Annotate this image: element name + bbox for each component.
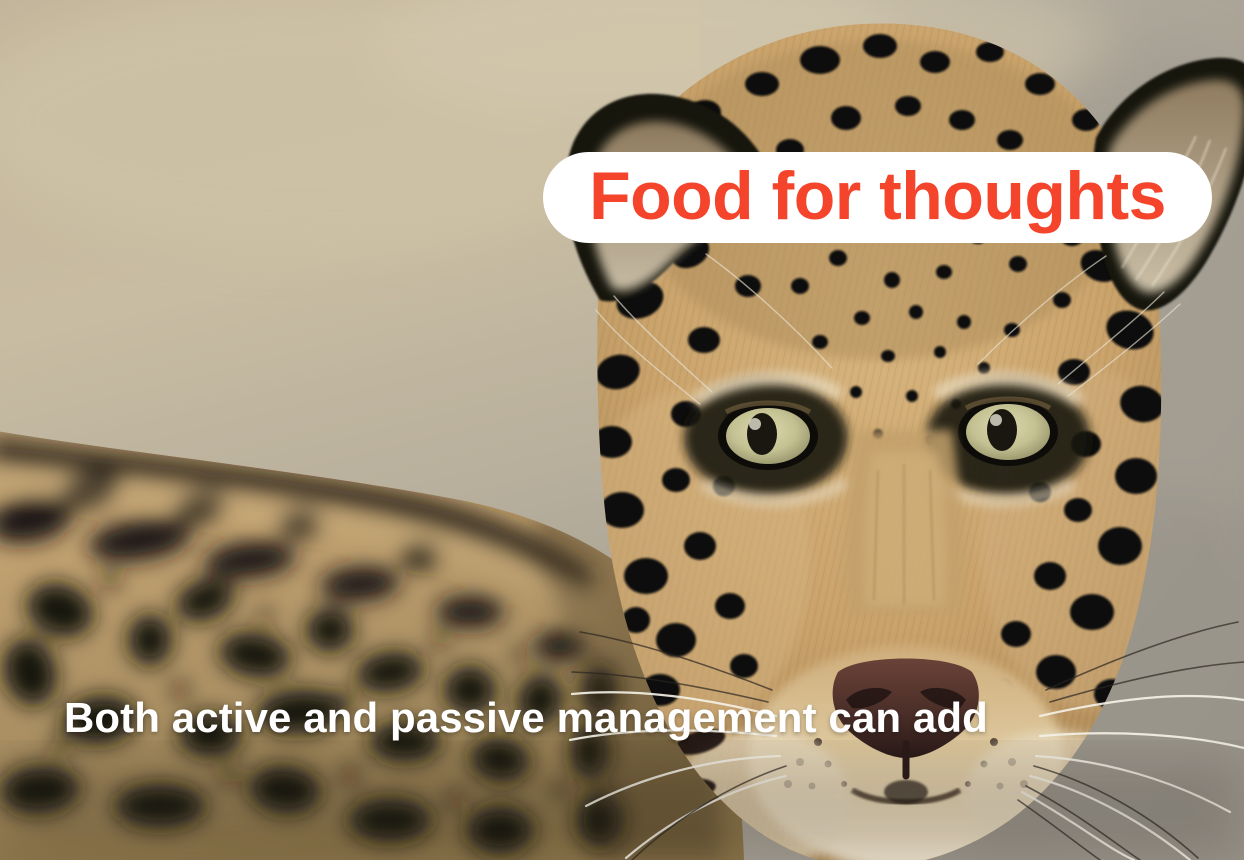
right-eye [958, 398, 1058, 466]
title-badge-text: Food for thoughts [589, 162, 1166, 230]
slide-canvas: Food for thoughts Both active and passiv… [0, 0, 1244, 860]
title-badge: Food for thoughts [543, 152, 1212, 243]
headline-block: Both active and passive management can a… [64, 528, 1174, 860]
left-eye [718, 402, 818, 470]
headline-line-1: Both active and passive management can a… [64, 680, 1174, 756]
